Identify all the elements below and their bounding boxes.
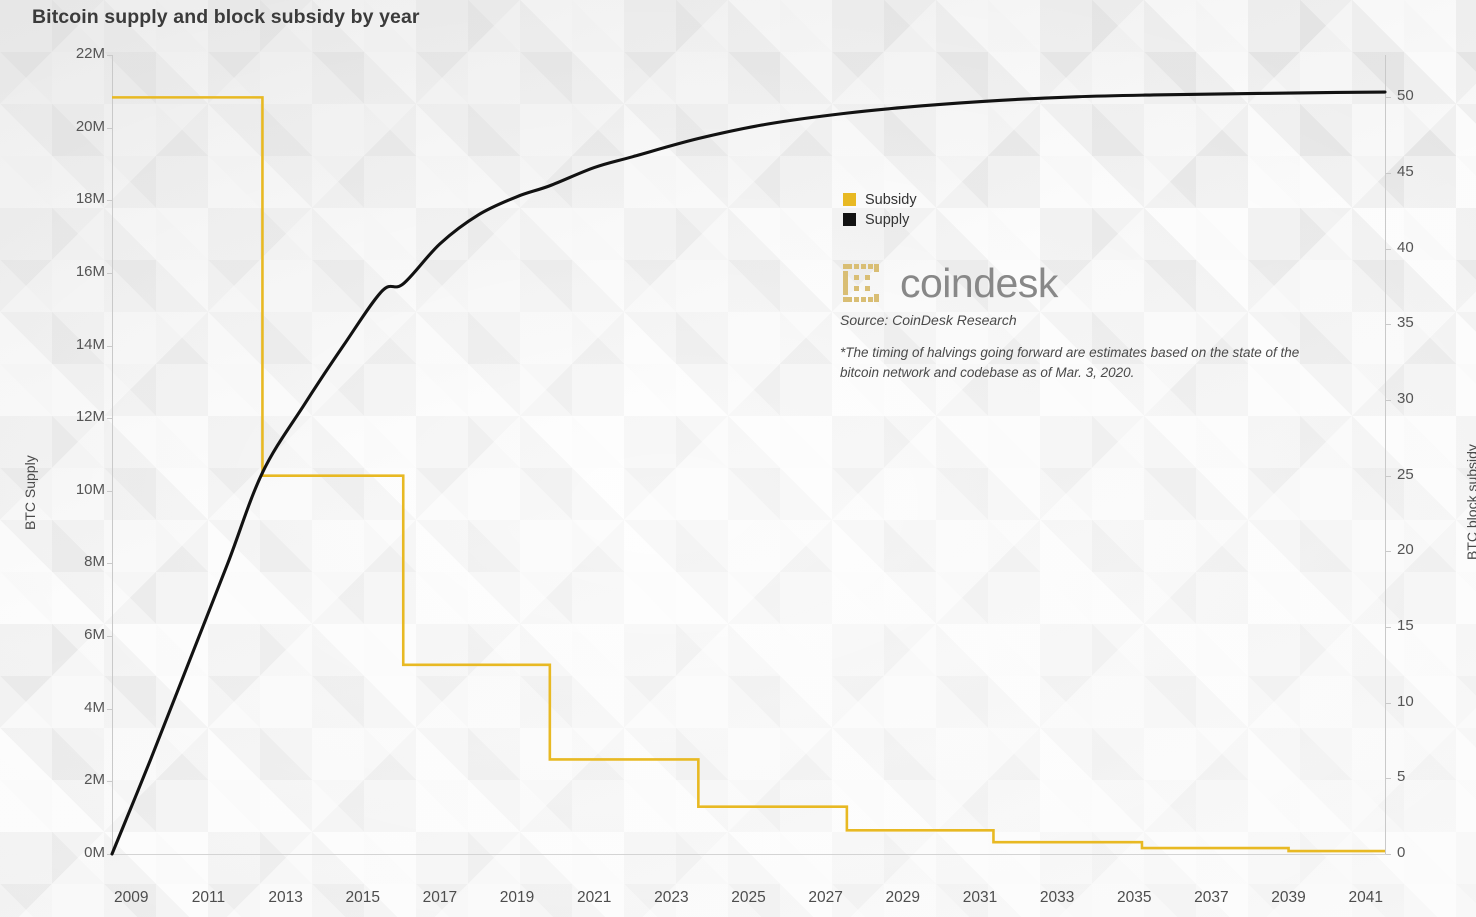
- coindesk-logo: coindesk: [840, 258, 1320, 308]
- legend: Subsidy Supply: [843, 190, 917, 230]
- legend-swatch-supply: [843, 213, 856, 226]
- chart-footnote: *The timing of halvings going forward ar…: [840, 343, 1320, 382]
- legend-label-supply: Supply: [865, 212, 909, 228]
- chart-screenshot: Bitcoin supply and block subsidy by year…: [0, 0, 1476, 917]
- source-attribution: Source: CoinDesk Research: [840, 312, 1320, 328]
- legend-label-subsidy: Subsidy: [865, 192, 917, 208]
- legend-swatch-subsidy: [843, 193, 856, 206]
- plot-area: [0, 0, 1476, 917]
- legend-item-subsidy: Subsidy: [843, 190, 917, 209]
- supply-curve-line: [112, 92, 1385, 854]
- subsidy-step-line: [112, 97, 1385, 851]
- brand-block: coindesk Source: CoinDesk Research *The …: [840, 258, 1320, 382]
- coindesk-wordmark: coindesk: [900, 263, 1058, 304]
- coindesk-mark-icon: [840, 260, 886, 306]
- legend-item-supply: Supply: [843, 210, 917, 229]
